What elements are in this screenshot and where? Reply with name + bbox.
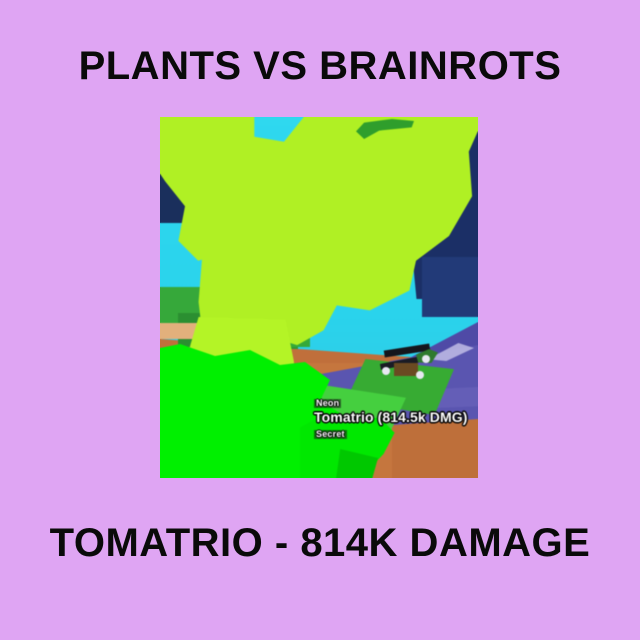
navy-building-right-lower — [422, 257, 478, 317]
drone-machine — [378, 341, 446, 381]
drone-rotor-1 — [382, 367, 390, 375]
page-title: PLANTS VS BRAINROTS — [0, 46, 640, 86]
poster-canvas: PLANTS VS BRAINROTS — [0, 0, 640, 640]
drone-rotor-3 — [422, 355, 430, 363]
gameplay-screenshot: Neon Tomatrio (814.5k DMG) Secret — [160, 117, 478, 478]
page-caption: TOMATRIO - 814K DAMAGE — [0, 523, 640, 563]
drone-rotor-2 — [416, 371, 424, 379]
drone-body — [394, 363, 418, 376]
